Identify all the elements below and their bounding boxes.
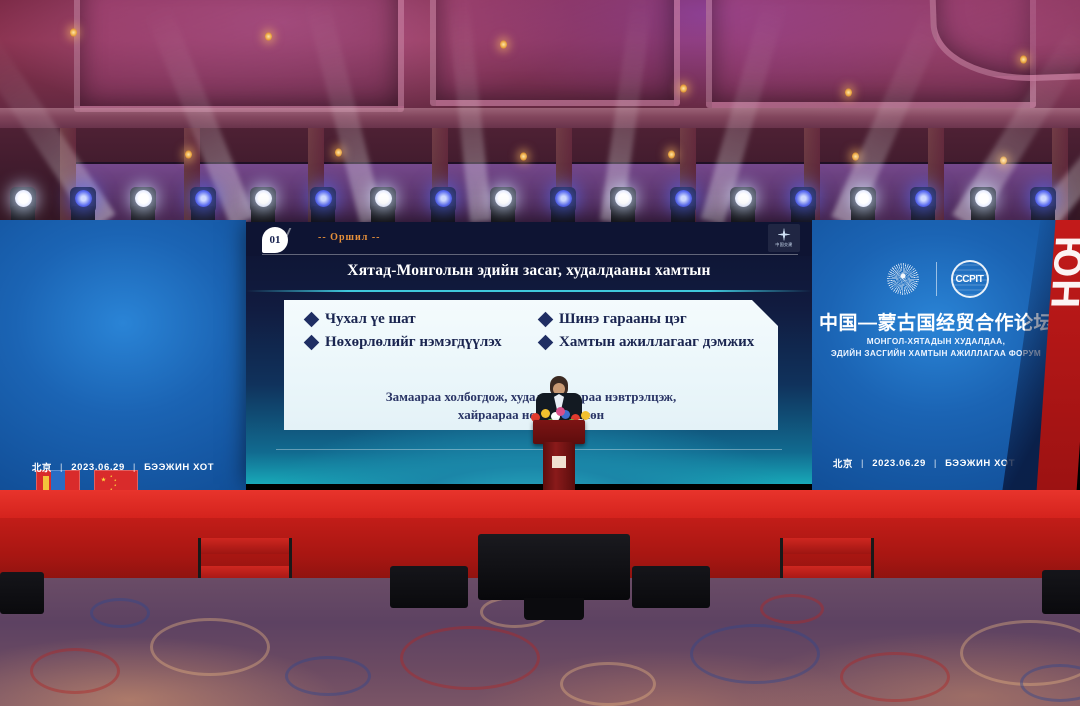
- slide-bullet: Хамтын ажиллагааг дэмжих: [540, 333, 758, 352]
- bullet-label: Хамтын ажиллагааг дэмжих: [559, 333, 754, 352]
- cccc-logo-icon: 中国交建: [768, 224, 800, 252]
- carpet-motif: [1020, 664, 1080, 702]
- header-divider: [262, 254, 798, 255]
- carpet-motif: [840, 652, 950, 702]
- ceiling-pin-light: [265, 32, 272, 41]
- ceiling-pin-light: [70, 28, 77, 37]
- stage-monitor-speaker: [0, 572, 44, 614]
- carpet-motif: [285, 656, 371, 696]
- footer-separator: |: [60, 462, 63, 473]
- left-led-panel: 韩国明 Han Guoming 中交一公局集团党委书记、董事长 Presiden…: [0, 220, 246, 492]
- diamond-bullet-icon: [304, 335, 320, 351]
- moving-head-light: [668, 180, 698, 226]
- lectern-nameplate: [552, 456, 566, 468]
- stage-deck-front: [0, 490, 1080, 520]
- forum-title-cn: 中国—蒙古国经贸合作论坛: [812, 308, 1060, 335]
- bullet-grid: Чухал үе шатШинэ гарааны цэгНөхөрлөлийг …: [306, 310, 758, 352]
- footer-date: 2023.06.29: [71, 462, 125, 473]
- carpet-motif: [400, 626, 540, 690]
- moving-head-light: [368, 180, 398, 226]
- slide-bullet: Шинэ гарааны цэг: [540, 310, 758, 329]
- carpet-motif: [90, 598, 150, 628]
- moving-head-light: [428, 180, 458, 226]
- flower: [541, 409, 550, 418]
- footer-separator: |: [133, 462, 136, 473]
- forum-title-mn-2: ЭДИЙН ЗАСГИЙН ХАМТЫН АЖИЛЛАГАА ФОРУМ: [812, 348, 1060, 360]
- stage-monitor-speaker: [632, 566, 710, 608]
- ceiling-pin-light: [500, 40, 507, 49]
- diamond-bullet-icon: [538, 312, 554, 328]
- forum-title-mn-1: МОНГОЛ-ХЯТАДЫН ХУДАЛДАА,: [812, 336, 1060, 348]
- ceiling-pin-light: [185, 150, 192, 159]
- ceiling-cornice: [0, 108, 1080, 130]
- bullet-label: Нөхөрлөлийг нэмэгдүүлэх: [325, 333, 502, 352]
- left-panel-footer: 北京 | 2023.06.29 | БЭЭЖИН ХОТ: [0, 460, 246, 474]
- moving-head-light: [728, 180, 758, 226]
- right-led-panel: CCPIT 中国—蒙古国经贸合作论坛 МОНГОЛ-ХЯТАДЫН ХУДАЛД…: [812, 220, 1060, 492]
- diamond-bullet-icon: [304, 312, 320, 328]
- footer-date: 2023.06.29: [872, 458, 926, 469]
- footer-separator: |: [861, 458, 864, 469]
- confidence-monitor: [478, 534, 630, 600]
- slide-bullet: Нөхөрлөлийг нэмэгдүүлэх: [306, 333, 524, 352]
- slide-bullet: Чухал үе шат: [306, 310, 524, 329]
- ceiling-pin-light: [680, 84, 687, 93]
- footer-separator: |: [934, 458, 937, 469]
- stage-monitor-speaker: [390, 566, 468, 608]
- ccpit-logo-icon: CCPIT: [951, 260, 989, 298]
- carpet-motif: [560, 662, 656, 706]
- slide-title: Хятад-Монголын эдийн засаг, худалдааны х…: [246, 262, 812, 280]
- forum-title-mn: МОНГОЛ-ХЯТАДЫН ХУДАЛДАА, ЭДИЙН ЗАСГИЙН Х…: [812, 336, 1060, 361]
- right-panel-footer: 北京 | 2023.06.29 | БЭЭЖИН ХОТ: [812, 456, 1060, 470]
- lectern-top: [533, 420, 585, 444]
- carpet-motif: [760, 594, 824, 624]
- moving-head-light: [248, 180, 278, 226]
- slide-header: 01 -- Оршил -- 中国交建: [246, 222, 812, 256]
- footer-city-mn: БЭЭЖИН ХОТ: [144, 462, 214, 473]
- emblem-row: CCPIT: [812, 260, 1060, 298]
- ceiling-pin-light: [1020, 55, 1027, 64]
- bullet-label: Чухал үе шат: [325, 310, 416, 329]
- moving-head-light: [548, 180, 578, 226]
- ceiling-pin-light: [845, 88, 852, 97]
- diamond-bullet-icon: [538, 335, 554, 351]
- moving-head-light: [308, 180, 338, 226]
- stage-monitor-speaker: [1042, 570, 1080, 614]
- conference-stage-photo: 韩国明 Han Guoming 中交一公局集团党委书记、董事长 Presiden…: [0, 0, 1080, 706]
- flower: [556, 407, 565, 416]
- ceiling-pin-light: [668, 150, 675, 159]
- carpet-motif: [150, 618, 270, 676]
- section-label: -- Оршил --: [318, 232, 380, 243]
- monitor-stand: [524, 598, 584, 620]
- carpet-motif: [690, 624, 820, 684]
- footer-city-cn: 北京: [833, 456, 853, 470]
- cccc-logo-label: 中国交建: [775, 242, 792, 248]
- moving-head-light: [488, 180, 518, 226]
- emblem-divider: [936, 262, 937, 296]
- ceiling-coffer-panel: [74, 0, 404, 112]
- moving-head-light: [608, 180, 638, 226]
- ceiling-pin-light: [520, 152, 527, 161]
- mongolia-chamber-emblem-icon: [884, 260, 922, 298]
- footer-city-cn: 北京: [32, 460, 52, 474]
- moving-head-light-row: [0, 178, 1080, 226]
- title-underline: [246, 290, 812, 292]
- bullet-label: Шинэ гарааны цэг: [559, 310, 687, 329]
- carpet-motif: [30, 648, 120, 694]
- compass-mark-icon: [778, 228, 791, 241]
- footer-city-mn: БЭЭЖИН ХОТ: [945, 458, 1015, 469]
